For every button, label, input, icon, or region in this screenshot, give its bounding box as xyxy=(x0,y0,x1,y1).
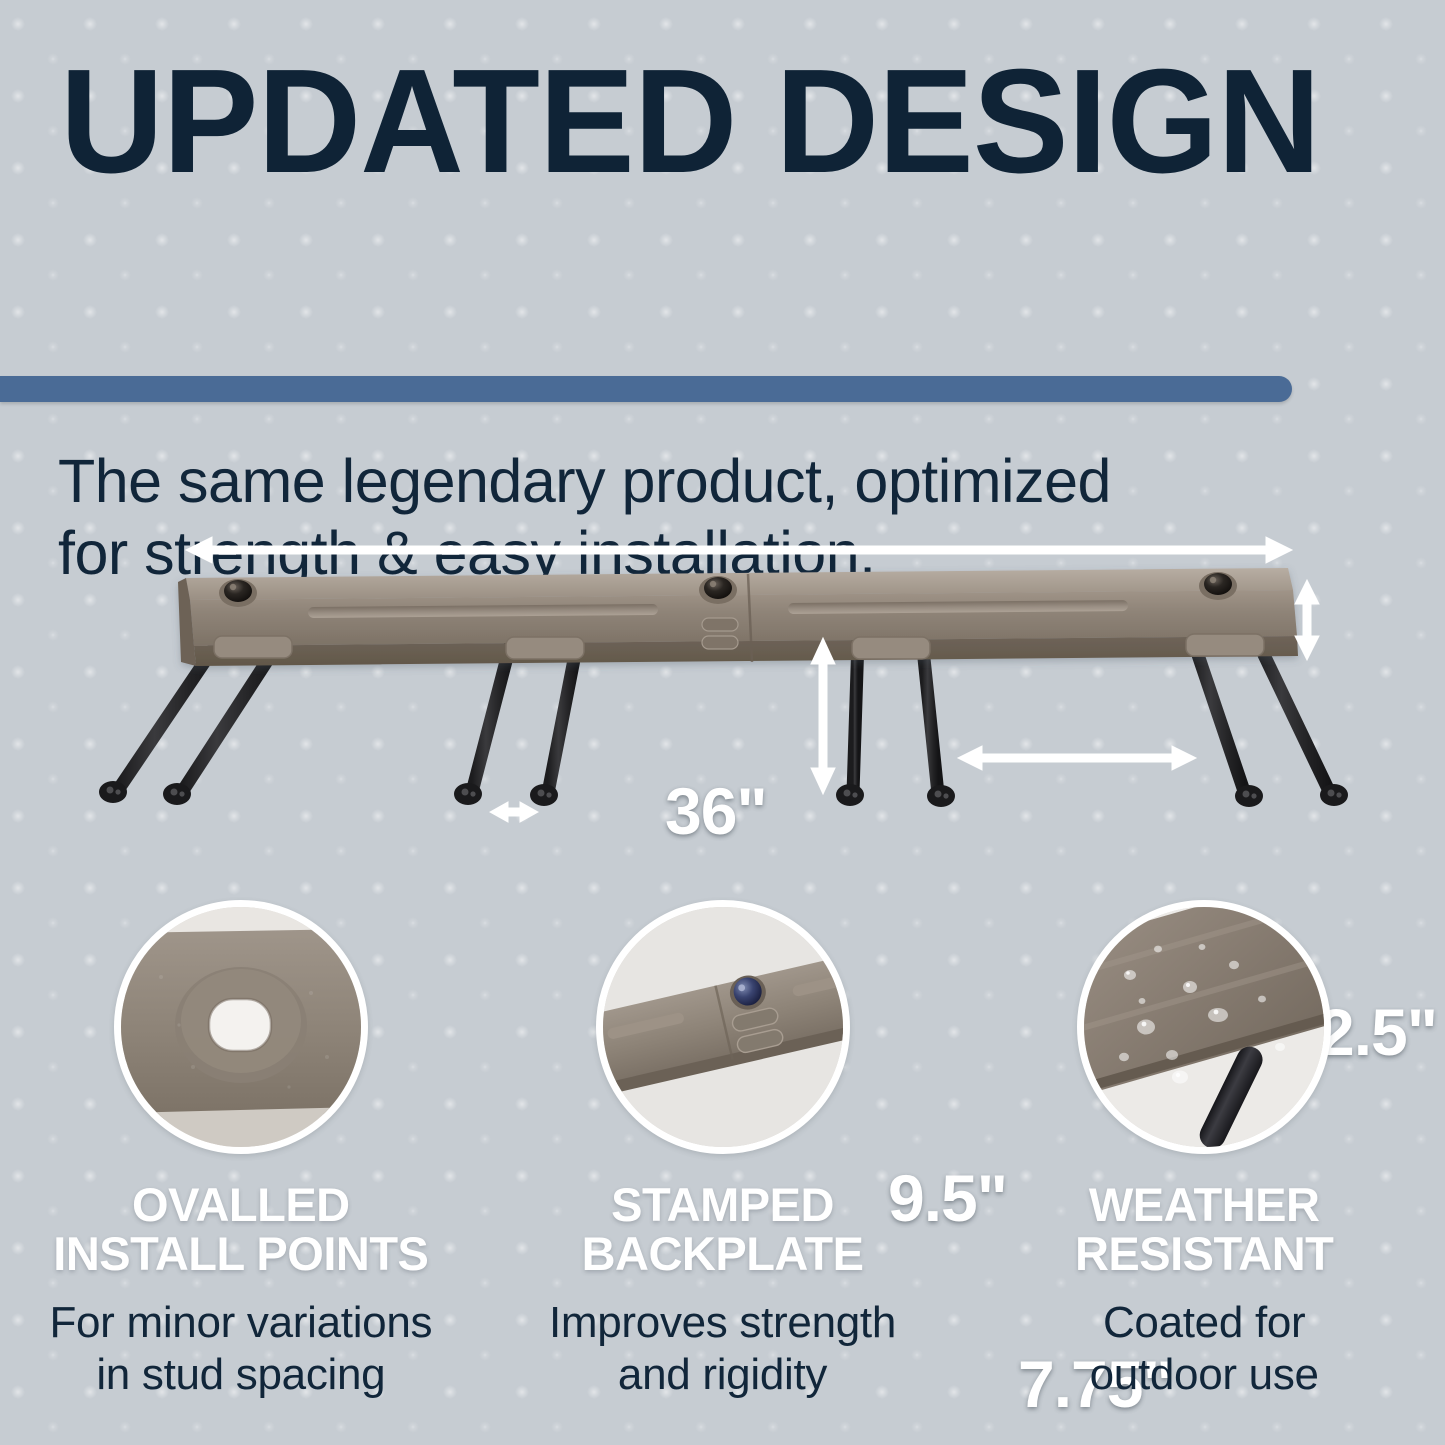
feature-title: OVALLED INSTALL POINTS xyxy=(53,1180,428,1279)
feature-desc-line-2: in stud spacing xyxy=(49,1349,432,1402)
feature-title-line-1: OVALLED xyxy=(132,1178,350,1231)
feature-desc-line-1: For minor variations xyxy=(49,1298,432,1347)
arrow-plate-height xyxy=(1295,580,1319,660)
arrow-hook-drop xyxy=(811,638,835,794)
feature-desc-line-1: Coated for xyxy=(1103,1298,1305,1347)
dimension-label-overall-width: 36" xyxy=(665,773,1445,849)
feature-title-line-2: BACKPLATE xyxy=(582,1229,864,1278)
stamped-backplate-icon xyxy=(596,900,850,1154)
feature-title: STAMPED BACKPLATE xyxy=(582,1180,864,1279)
infographic-page: UPDATED DESIGN The same legendary produc… xyxy=(0,0,1445,1445)
weather-resistant-icon xyxy=(1077,900,1331,1154)
screw-left xyxy=(219,579,257,607)
screw-center xyxy=(699,576,737,604)
feature-desc-line-1: Improves strength xyxy=(549,1298,896,1347)
feature-description: Improves strength and rigidity xyxy=(549,1297,896,1403)
page-title: UPDATED DESIGN xyxy=(60,48,1445,196)
arrow-overall-width xyxy=(186,537,1292,563)
feature-ovalled-install-points: OVALLED INSTALL POINTS For minor variati… xyxy=(0,900,482,1445)
feature-desc-line-2: and rigidity xyxy=(549,1349,896,1402)
feature-stamped-backplate: STAMPED BACKPLATE Improves strength and … xyxy=(482,900,964,1445)
ovalled-install-point-icon xyxy=(114,900,368,1154)
feature-title-line-1: STAMPED xyxy=(611,1178,834,1231)
feature-title-line-2: INSTALL POINTS xyxy=(53,1229,428,1278)
feature-description: Coated for outdoor use xyxy=(1090,1297,1319,1403)
feature-title-line-2: RESISTANT xyxy=(1075,1229,1333,1278)
feature-desc-line-2: outdoor use xyxy=(1090,1349,1319,1402)
arrow-pair-spacing xyxy=(958,746,1196,770)
feature-weather-resistant: WEATHER RESISTANT Coated for outdoor use xyxy=(963,900,1445,1445)
arrow-rod-spacing xyxy=(490,802,538,822)
screw-right xyxy=(1199,572,1237,600)
feature-description: For minor variations in stud spacing xyxy=(49,1297,432,1403)
feature-row: OVALLED INSTALL POINTS For minor variati… xyxy=(0,900,1445,1445)
feature-title-line-1: WEATHER xyxy=(1089,1178,1320,1231)
accent-divider-bar xyxy=(0,376,1292,402)
feature-title: WEATHER RESISTANT xyxy=(1075,1180,1333,1279)
